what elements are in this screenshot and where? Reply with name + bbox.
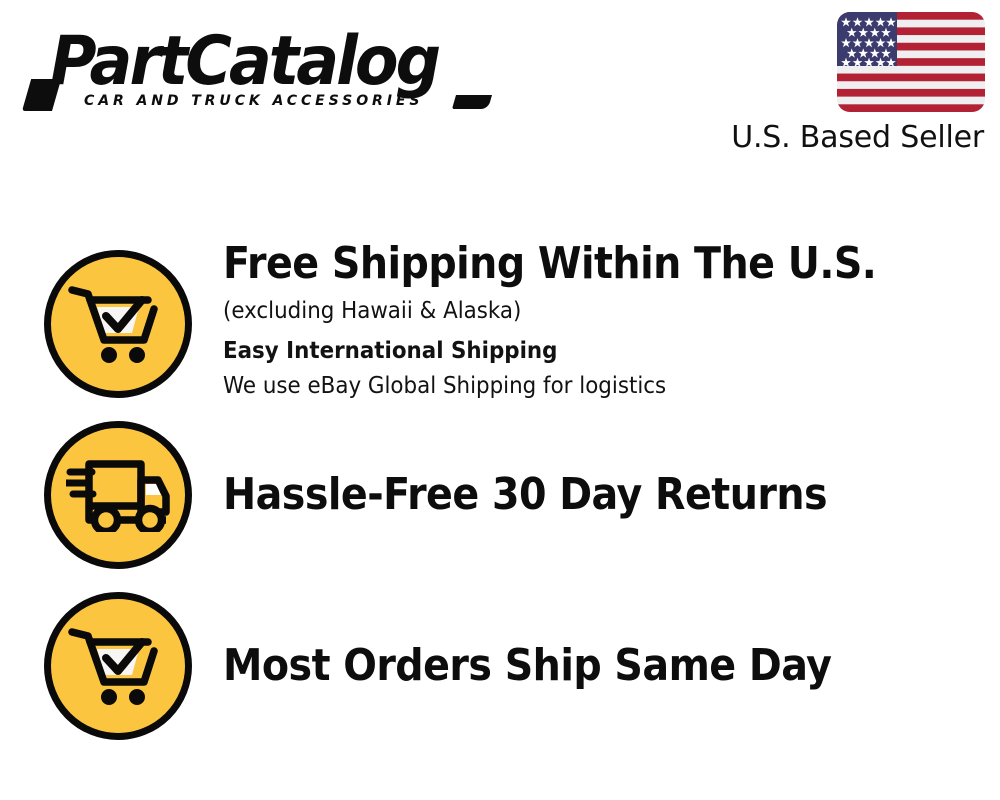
promo-banner: PartCatalog CAR AND TRUCK ACCESSORIES <box>0 0 1000 800</box>
shopping-cart-check-icon <box>44 250 192 398</box>
us-based-seller-block: U.S. Based Seller <box>695 12 985 157</box>
feature-headline: Most Orders Ship Same Day <box>223 640 907 692</box>
partcatalog-logo[interactable]: PartCatalog CAR AND TRUCK ACCESSORIES <box>22 22 492 117</box>
logo-tagline: CAR AND TRUCK ACCESSORIES <box>84 93 423 109</box>
delivery-truck-icon <box>44 421 192 569</box>
shopping-cart-check-icon <box>44 592 192 740</box>
logo-wordmark: PartCatalog <box>50 22 438 102</box>
feature-row: Most Orders Ship Same Day <box>0 588 1000 760</box>
feature-text: Most Orders Ship Same Day <box>223 640 983 692</box>
feature-subline: We use eBay Global Shipping for logistic… <box>223 369 930 403</box>
feature-text: Hassle-Free 30 Day Returns <box>223 469 983 521</box>
us-flag-icon <box>837 12 985 112</box>
feature-headline: Free Shipping Within The U.S. <box>223 238 907 290</box>
feature-text: Free Shipping Within The U.S. (excluding… <box>223 238 983 403</box>
us-based-seller-label: U.S. Based Seller <box>731 120 984 155</box>
feature-subline-strong: Easy International Shipping <box>223 334 930 368</box>
feature-subline: (excluding Hawaii & Alaska) <box>223 294 930 328</box>
feature-row: Hassle-Free 30 Day Returns <box>0 417 1000 589</box>
feature-headline: Hassle-Free 30 Day Returns <box>223 469 907 521</box>
logo-descender-right-shape <box>452 95 492 109</box>
feature-row: Free Shipping Within The U.S. (excluding… <box>0 246 1000 418</box>
banner-header: PartCatalog CAR AND TRUCK ACCESSORIES <box>0 0 1000 185</box>
